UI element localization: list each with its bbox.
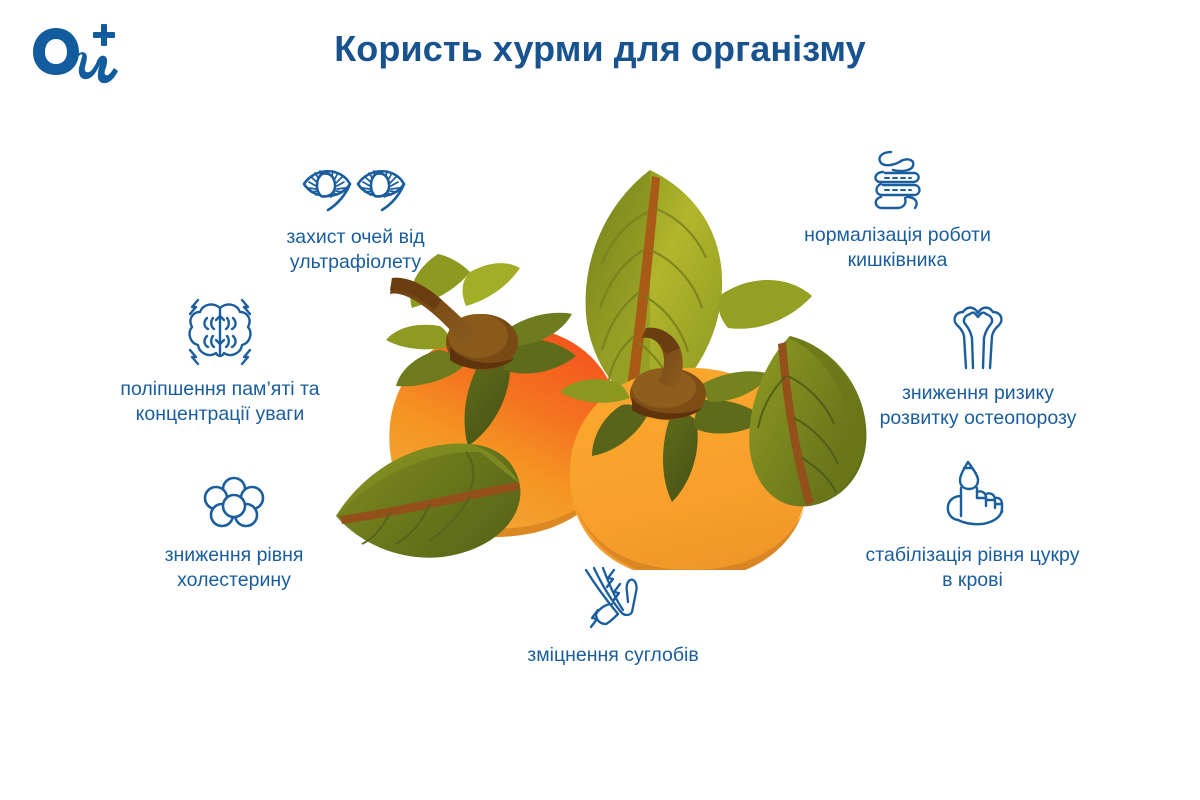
benefit-cholesterol-label: зниження рівня холестерину	[165, 543, 304, 593]
intestines-icon	[863, 148, 933, 214]
benefit-cholesterol[interactable]: зниження рівня холестерину	[135, 476, 333, 593]
benefit-sugar-label: стабілізація рівня цукру в крові	[866, 543, 1080, 593]
fat-globules-icon	[201, 476, 267, 534]
bone-icon	[948, 300, 1008, 372]
benefit-brain-label: поліпшення пам’яті та концентрації уваги	[120, 377, 319, 427]
benefit-joints-label: зміцнення суглобів	[527, 643, 698, 668]
finger-prick-icon	[938, 458, 1008, 534]
benefit-eyes[interactable]: захист очей від ультрафіолету	[243, 160, 468, 275]
leaf-right-upper	[719, 280, 812, 329]
benefit-bone-label: зниження ризику розвитку остеопорозу	[880, 381, 1077, 431]
benefit-brain[interactable]: поліпшення пам’яті та концентрації уваги	[100, 296, 340, 427]
benefit-joints[interactable]: зміцнення суглобів	[503, 558, 723, 668]
eyes-icon	[300, 160, 412, 216]
brain-icon	[181, 296, 259, 368]
joint-hand-icon	[574, 558, 652, 634]
page-title: Користь хурми для організму	[200, 28, 1000, 69]
benefit-blood-sugar[interactable]: стабілізація рівня цукру в крові	[845, 458, 1100, 593]
leaf-bottom-left	[336, 444, 520, 558]
benefit-gut-label: нормалізація роботи кишківника	[804, 223, 991, 273]
on-plus-logo[interactable]	[26, 18, 136, 90]
benefit-eyes-label: захист очей від ультрафіолету	[286, 225, 424, 275]
benefit-bone[interactable]: зниження ризику розвитку остеопорозу	[858, 300, 1098, 431]
infographic-canvas: Користь хурми для організму	[0, 0, 1200, 800]
benefit-gut[interactable]: нормалізація роботи кишківника	[780, 148, 1015, 273]
